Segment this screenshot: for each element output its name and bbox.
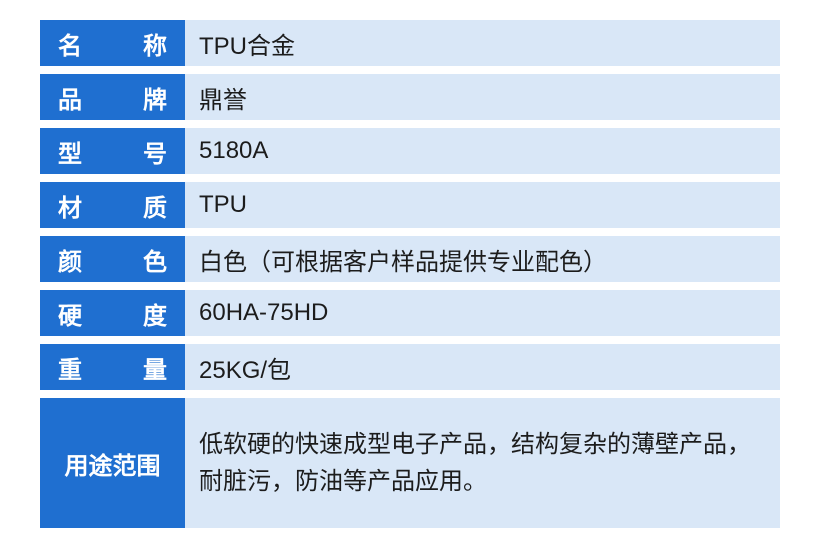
spec-value-cell: 低软硬的快速成型电子产品，结构复杂的薄壁产品，耐脏污，防油等产品应用。	[185, 398, 780, 528]
spec-row: 硬 度60HA-75HD	[40, 290, 780, 336]
spec-label-cell: 名 称	[40, 20, 185, 66]
spec-value-cell: 5180A	[185, 128, 780, 174]
spec-value-text: 鼎誉	[199, 80, 247, 115]
spec-value-text: 白色（可根据客户样品提供专业配色）	[199, 242, 607, 277]
spec-row: 重 量25KG/包	[40, 344, 780, 390]
spec-value-cell: 白色（可根据客户样品提供专业配色）	[185, 236, 780, 282]
spec-label-cell: 重 量	[40, 344, 185, 390]
product-spec-table: 名 称TPU合金品 牌鼎誉型 号5180A材 质TPU颜 色白色（可根据客户样品…	[40, 20, 780, 528]
spec-row: 型 号5180A	[40, 128, 780, 174]
spec-row: 名 称TPU合金	[40, 20, 780, 66]
spec-row: 颜 色白色（可根据客户样品提供专业配色）	[40, 236, 780, 282]
spec-value-text: TPU	[199, 191, 247, 219]
spec-label-cell: 用途范围	[40, 398, 185, 528]
spec-label-cell: 材 质	[40, 182, 185, 228]
spec-row: 材 质TPU	[40, 182, 780, 228]
spec-value-cell: 25KG/包	[185, 344, 780, 390]
spec-label-text: 名 称	[40, 26, 185, 61]
spec-label-cell: 颜 色	[40, 236, 185, 282]
spec-row: 品 牌鼎誉	[40, 74, 780, 120]
spec-value-text: 60HA-75HD	[199, 299, 328, 327]
spec-label-cell: 型 号	[40, 128, 185, 174]
spec-label-text: 颜 色	[40, 242, 185, 277]
spec-value-text: 低软硬的快速成型电子产品，结构复杂的薄壁产品，耐脏污，防油等产品应用。	[199, 426, 760, 500]
spec-row: 用途范围低软硬的快速成型电子产品，结构复杂的薄壁产品，耐脏污，防油等产品应用。	[40, 398, 780, 528]
spec-label-text: 硬 度	[40, 296, 185, 331]
spec-label-text: 重 量	[40, 350, 185, 385]
spec-label-text: 型 号	[40, 134, 185, 169]
spec-label-cell: 品 牌	[40, 74, 185, 120]
spec-value-text: 5180A	[199, 137, 268, 165]
spec-value-cell: TPU	[185, 182, 780, 228]
spec-label-text: 材 质	[40, 188, 185, 223]
spec-value-cell: 鼎誉	[185, 74, 780, 120]
spec-label-cell: 硬 度	[40, 290, 185, 336]
spec-value-cell: 60HA-75HD	[185, 290, 780, 336]
spec-label-text: 品 牌	[40, 80, 185, 115]
spec-value-text: 25KG/包	[199, 350, 291, 385]
spec-value-cell: TPU合金	[185, 20, 780, 66]
spec-label-text: 用途范围	[40, 446, 185, 481]
spec-value-text: TPU合金	[199, 26, 295, 61]
